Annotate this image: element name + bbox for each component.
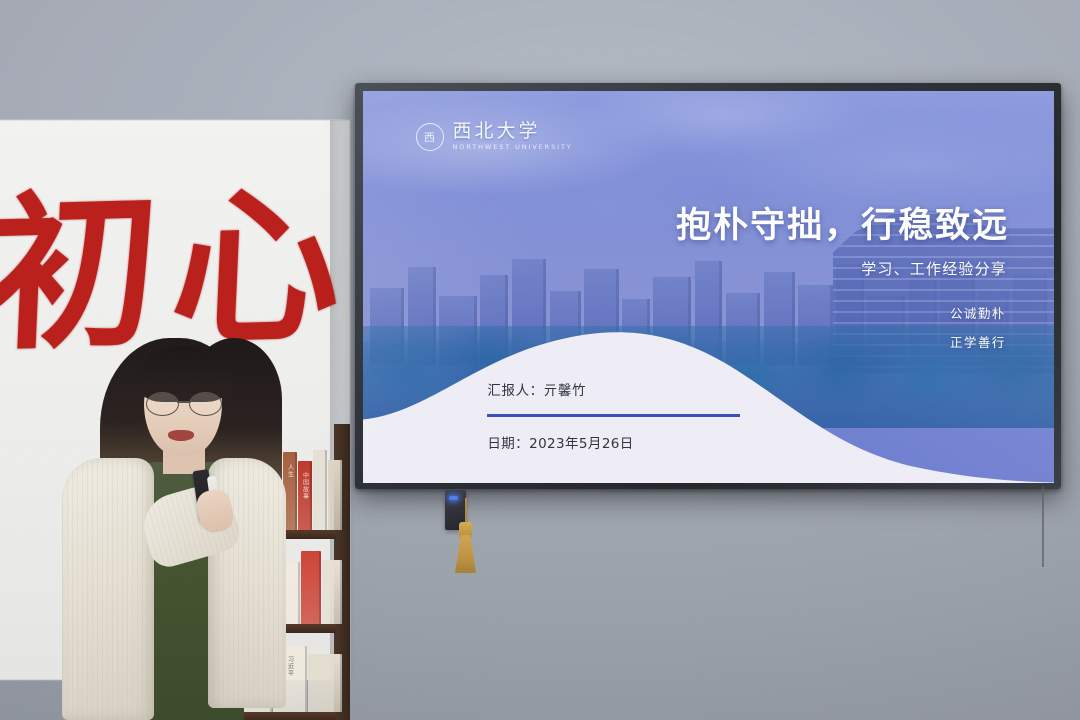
book-spine: 中国故事 <box>298 461 312 530</box>
university-logo: 西 西北大学 NORTHWEST UNIVERSITY <box>416 122 573 151</box>
tv-screen: 西 西北大学 NORTHWEST UNIVERSITY 抱朴守拙，行稳致远 学习… <box>363 91 1054 483</box>
glasses-icon <box>146 392 222 414</box>
slide-motto-line-2: 正学善行 <box>950 332 1006 351</box>
slide-title: 抱朴守拙，行稳致远 <box>676 197 1009 248</box>
book-spine <box>301 551 321 624</box>
slide-motto-line-1: 公诚勤朴 <box>950 303 1006 322</box>
book-spine <box>313 450 327 530</box>
presentation-slide: 西 西北大学 NORTHWEST UNIVERSITY 抱朴守拙，行稳致远 学习… <box>363 91 1054 483</box>
slide-subtitle: 学习、工作经验分享 <box>861 258 1007 279</box>
book-spine <box>328 460 342 530</box>
mouth <box>168 430 194 441</box>
slide-date: 日期：2023年5月26日 <box>487 432 633 452</box>
tv-cable <box>1042 487 1044 567</box>
book-spine <box>322 560 342 624</box>
slide-divider-rule <box>487 414 739 417</box>
wall-mounted-tv: 西 西北大学 NORTHWEST UNIVERSITY 抱朴守拙，行稳致远 学习… <box>355 83 1061 489</box>
glasses-lens-left <box>146 392 179 416</box>
tassel-head <box>459 522 472 537</box>
power-led-icon <box>449 496 458 500</box>
cardigan-left <box>62 458 154 720</box>
presentation-room-photo: 初心 <box>0 0 1080 720</box>
book-title: 中国故事 <box>301 472 310 500</box>
logo-name-cn: 西北大学 <box>453 122 573 141</box>
tassel-cord <box>465 498 467 524</box>
logo-text: 西北大学 NORTHWEST UNIVERSITY <box>453 122 573 151</box>
presenter-person <box>48 330 298 720</box>
book-spine <box>308 654 342 712</box>
university-seal-icon: 西 <box>416 123 444 151</box>
glasses-lens-right <box>189 392 222 416</box>
logo-name-en: NORTHWEST UNIVERSITY <box>453 144 573 151</box>
knit-texture <box>62 458 154 720</box>
slide-presenter: 汇报人：亓馨竹 <box>487 379 586 399</box>
